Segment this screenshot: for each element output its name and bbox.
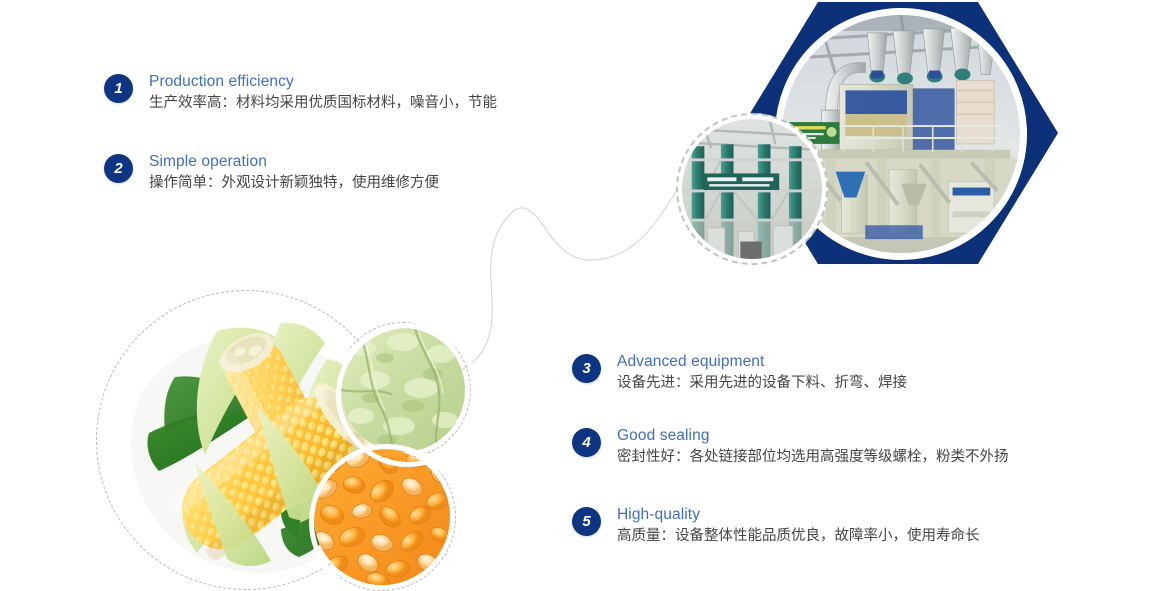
feature-item-5: 5 High-quality 高质量：设备整体性能品质优良，故障率小，使用寿命长 bbox=[572, 505, 980, 547]
feature-badge-1: 1 bbox=[104, 74, 133, 103]
corn-grits-photo bbox=[314, 449, 450, 585]
feature-text-1: Production efficiency 生产效率高：材料均采用优质国标材料，… bbox=[149, 72, 497, 114]
feature-badge-3: 3 bbox=[572, 354, 601, 383]
feature-description-5: 高质量：设备整体性能品质优良，故障率小，使用寿命长 bbox=[617, 525, 980, 547]
corn-paste-photo bbox=[341, 328, 465, 452]
feature-description-1: 生产效率高：材料均采用优质国标材料，噪音小，节能 bbox=[149, 92, 497, 114]
feature-title-3: Advanced equipment bbox=[617, 352, 907, 371]
feature-description-4: 密封性好：各处链接部位均选用高强度等级螺栓，粉类不外扬 bbox=[617, 446, 1009, 468]
feature-title-1: Production efficiency bbox=[149, 72, 497, 91]
feature-title-4: Good sealing bbox=[617, 426, 1009, 445]
feature-item-4: 4 Good sealing 密封性好：各处链接部位均选用高强度等级螺栓，粉类不… bbox=[572, 426, 1009, 468]
feature-badge-5: 5 bbox=[572, 507, 601, 536]
feature-item-1: 1 Production efficiency 生产效率高：材料均采用优质国标材… bbox=[104, 72, 497, 114]
feature-description-2: 操作简单：外观设计新颖独特，使用维修方便 bbox=[149, 172, 439, 194]
feature-text-2: Simple operation 操作简单：外观设计新颖独特，使用维修方便 bbox=[149, 152, 439, 194]
feature-item-3: 3 Advanced equipment 设备先进：采用先进的设备下料、折弯、焊… bbox=[572, 352, 907, 394]
feature-item-2: 2 Simple operation 操作简单：外观设计新颖独特，使用维修方便 bbox=[104, 152, 439, 194]
feature-title-2: Simple operation bbox=[149, 152, 439, 171]
feature-title-5: High-quality bbox=[617, 505, 980, 524]
feature-badge-4: 4 bbox=[572, 428, 601, 457]
feature-badge-2: 2 bbox=[104, 154, 133, 183]
feature-text-5: High-quality 高质量：设备整体性能品质优良，故障率小，使用寿命长 bbox=[617, 505, 980, 547]
corn-processing-line-photo bbox=[676, 113, 828, 265]
feature-description-3: 设备先进：采用先进的设备下料、折弯、焊接 bbox=[617, 372, 907, 394]
feature-text-4: Good sealing 密封性好：各处链接部位均选用高强度等级螺栓，粉类不外扬 bbox=[617, 426, 1009, 468]
feature-highlights-page: 1 Production efficiency 生产效率高：材料均采用优质国标材… bbox=[0, 0, 1154, 591]
feature-text-3: Advanced equipment 设备先进：采用先进的设备下料、折弯、焊接 bbox=[617, 352, 907, 394]
